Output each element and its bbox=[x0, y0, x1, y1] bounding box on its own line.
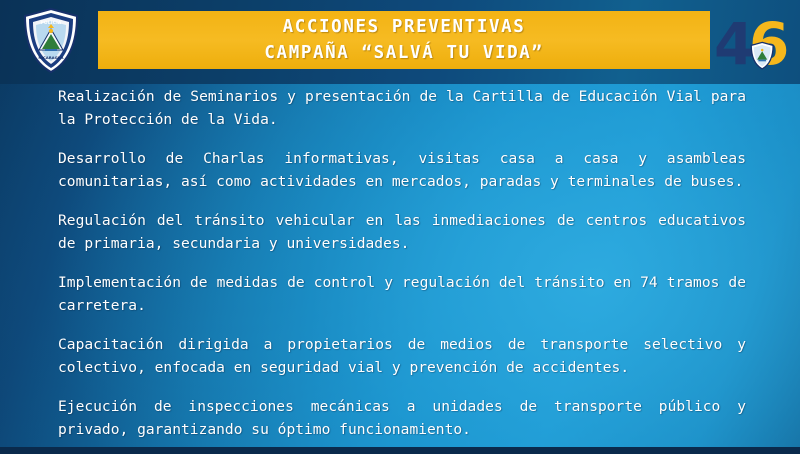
page-title-line-2: CAMPAÑA “SALVÁ TU VIDA” bbox=[264, 40, 543, 66]
slide-body: Realización de Seminarios y presentación… bbox=[58, 86, 746, 441]
slide-title-banner: ACCIONES PREVENTIVAS CAMPAÑA “SALVÁ TU V… bbox=[98, 11, 710, 69]
svg-text:POLICIA: POLICIA bbox=[40, 20, 61, 26]
svg-text:NICARAGUA: NICARAGUA bbox=[38, 55, 63, 60]
police-badge-icon: POLICIA NICARAGUA bbox=[22, 8, 80, 74]
body-paragraph-1: Realización de Seminarios y presentación… bbox=[58, 86, 746, 131]
presentation-slide: POLICIA NICARAGUA ACCIONES PREVENTIVAS C… bbox=[0, 0, 800, 454]
slide-footer-strip bbox=[0, 447, 800, 454]
body-paragraph-2: Desarrollo de Charlas informativas, visi… bbox=[58, 148, 746, 193]
body-paragraph-5: Capacitación dirigida a propietarios de … bbox=[58, 334, 746, 379]
body-paragraph-3: Regulación del tránsito vehicular en las… bbox=[58, 210, 746, 255]
svg-text:4: 4 bbox=[714, 10, 752, 78]
anniversary-46-icon: 4 6 bbox=[708, 2, 792, 82]
page-title-line-1: ACCIONES PREVENTIVAS bbox=[283, 14, 526, 40]
body-paragraph-4: Implementación de medidas de control y r… bbox=[58, 272, 746, 317]
body-paragraph-6: Ejecución de inspecciones mecánicas a un… bbox=[58, 396, 746, 441]
